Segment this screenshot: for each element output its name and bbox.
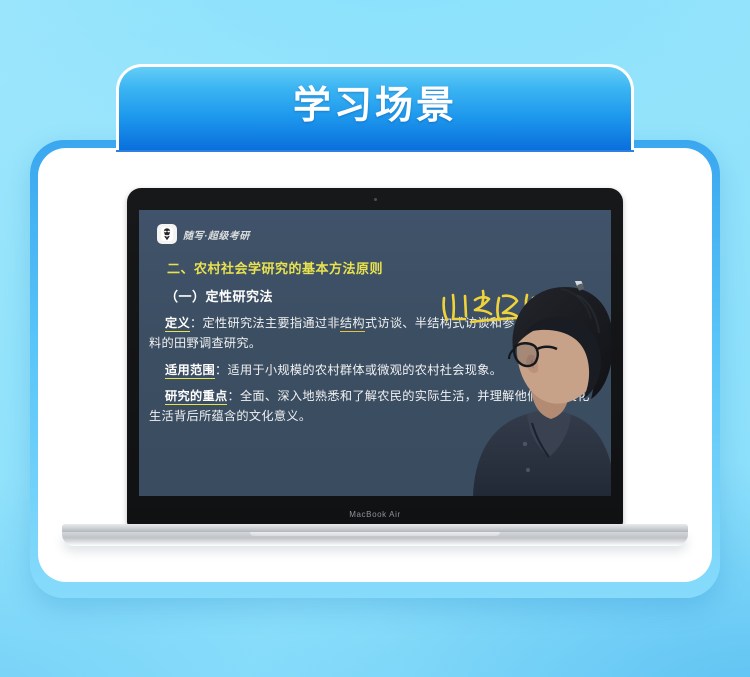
brand-logo: 随写·超级考研 bbox=[157, 224, 250, 244]
webcam-icon bbox=[374, 198, 377, 201]
person-avatar-icon bbox=[157, 224, 177, 244]
paragraph-term: 定义 bbox=[165, 316, 190, 332]
slide-text-body: 二、农村社会学研究的基本方法原则 （一）定性研究法 定义：定性研究法主要指通过非… bbox=[149, 258, 607, 434]
laptop-base bbox=[62, 524, 688, 546]
lecture-slide: 随写·超级考研 二、农村社会学研究的基本方法原则 （一）定性研究法 定义：定性研… bbox=[139, 210, 611, 496]
paragraph-separator: ： bbox=[215, 363, 228, 377]
brand-logo-text: 随写·超级考研 bbox=[183, 227, 250, 242]
page-root: 学习场景 bbox=[0, 0, 750, 677]
slide-paragraph-definition: 定义：定性研究法主要指通过非结构式访谈、半结构式访谈和参与观察收集资料的田野调查… bbox=[149, 314, 607, 354]
paragraph-underlined: 结构 bbox=[340, 316, 365, 332]
laptop-lid: 随写·超级考研 二、农村社会学研究的基本方法原则 （一）定性研究法 定义：定性研… bbox=[127, 188, 623, 526]
paragraph-text-b: 象。 bbox=[477, 363, 502, 377]
paragraph-text-a: 适用于小规模的农村群体或微观的农村社会现 bbox=[227, 363, 477, 377]
page-title: 学习场景 bbox=[293, 87, 457, 131]
section-title-banner: 学习场景 bbox=[116, 64, 634, 150]
laptop-base-notch bbox=[250, 532, 500, 536]
paragraph-term: 适用范围 bbox=[165, 363, 215, 379]
paragraph-term: 研究的重点 bbox=[165, 389, 227, 405]
paragraph-separator: ： bbox=[190, 316, 203, 330]
slide-heading: 二、农村社会学研究的基本方法原则 bbox=[167, 258, 607, 277]
slide-paragraph-scope: 适用范围：适用于小规模的农村群体或微观的农村社会现象。 bbox=[149, 361, 607, 381]
paragraph-separator: ： bbox=[227, 389, 240, 403]
slide-paragraph-focus: 研究的重点：全面、深入地熟悉和了解农民的实际生活，并理解他们社会文化生活背后所蕴… bbox=[149, 387, 607, 427]
laptop-screen[interactable]: 随写·超级考研 二、农村社会学研究的基本方法原则 （一）定性研究法 定义：定性研… bbox=[139, 210, 611, 496]
laptop-model-label: MacBook Air bbox=[127, 510, 623, 519]
slide-subheading: （一）定性研究法 bbox=[165, 286, 607, 305]
paragraph-text-a: 全面、深入地熟悉和了解农民的实际生活， bbox=[240, 389, 477, 403]
paragraph-text-a: 定性研究法主要指通过非 bbox=[202, 316, 339, 330]
